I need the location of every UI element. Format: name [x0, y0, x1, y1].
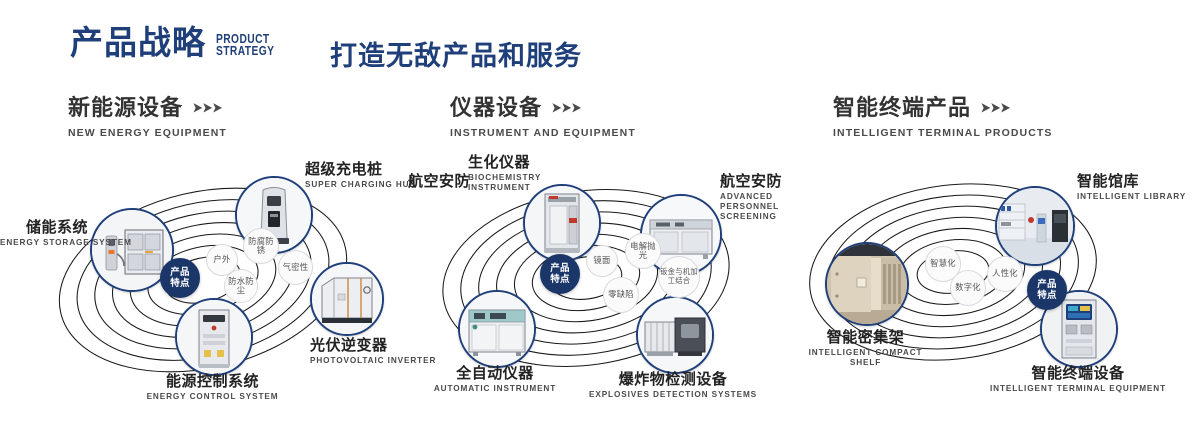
section-title-cn: 仪器设备	[450, 96, 542, 122]
compact-shelf-icon	[827, 244, 907, 324]
page-title-english-line2: STRATEGY	[216, 45, 274, 57]
section-title-intelligent-terminal: 智能终端产品 ➤➤➤ INTELLIGENT TERMINAL PRODUCTS	[833, 96, 1053, 139]
bubble-feature-2[interactable]: 零缺陷	[603, 277, 639, 313]
node-explosives-detection[interactable]	[636, 296, 714, 374]
section-title-en: INSTRUMENT AND EQUIPMENT	[450, 127, 636, 139]
bubble-product-features[interactable]: 产品 特点	[160, 258, 200, 298]
node-label-automatic-instrument: 全自动仪器 AUTOMATIC INSTRUMENT	[398, 364, 592, 394]
bubble-feature-1[interactable]: 电解抛光	[625, 233, 661, 269]
node-label-self-service-kiosk: 智能终端设备 INTELLIGENT TERMINAL EQUIPMENT	[980, 364, 1176, 394]
bubble-feature-3[interactable]: 气密性	[278, 250, 313, 285]
bubble-product-features[interactable]: 产品 特点	[1027, 270, 1067, 310]
bubble-feature-1[interactable]: 数字化	[950, 270, 986, 306]
biochemistry-analyzer-icon	[525, 186, 599, 260]
diagram-intelligent-terminal: 智能馆库 INTELLIGENT LIBRARY 智能密集架	[805, 150, 1200, 410]
node-label-energy-storage: 储能系统 ENERGY STORAGE SYSTEM	[0, 218, 88, 248]
node-label-biochemistry-instrument: 生化仪器 BIOCHEMISTRY INSTRUMENT	[468, 153, 560, 193]
section-title-en: INTELLIGENT TERMINAL PRODUCTS	[833, 127, 1053, 139]
control-cabinet-icon	[177, 300, 251, 374]
node-automatic-instrument[interactable]	[458, 290, 536, 368]
node-pv-inverter[interactable]	[310, 262, 384, 336]
diagram-new-energy: 储能系统 ENERGY STORAGE SYSTEM 超级充电桩 SUPER C…	[35, 150, 435, 410]
section-title-instrument: 仪器设备 ➤➤➤ INSTRUMENT AND EQUIPMENT	[450, 96, 636, 139]
smart-library-icon	[997, 188, 1073, 264]
node-label-explosives-detection: 爆炸物检测设备 EXPLOSIVES DETECTION SYSTEMS	[578, 370, 768, 400]
stray-label-aviation-security: 航空安防	[408, 172, 470, 190]
node-label-super-charging-hub: 超级充电桩 SUPER CHARGING HUB	[305, 160, 416, 190]
chevrons-icon: ➤➤➤	[192, 94, 222, 124]
node-label-compact-shelf: 智能密集架 INTELLIGENT COMPACT SHELF	[793, 328, 938, 368]
bubble-feature-3[interactable]: 钣金与机加工结合	[658, 256, 700, 298]
page-header: 产品战略 PRODUCT STRATEGY	[70, 26, 287, 59]
page-title-english: PRODUCT STRATEGY	[216, 33, 274, 57]
page-title: 产品战略	[70, 26, 206, 59]
bubble-feature-0[interactable]: 镜面	[586, 245, 618, 277]
chevrons-icon: ➤➤➤	[551, 94, 581, 124]
bubble-feature-2[interactable]: 人性化	[987, 256, 1023, 292]
page-subtitle: 打造无敌产品和服务	[330, 34, 582, 73]
section-title-en: NEW ENERGY EQUIPMENT	[68, 127, 227, 139]
bubble-feature-2[interactable]: 防水防尘	[224, 269, 258, 303]
node-label-smart-library: 智能馆库 INTELLIGENT LIBRARY	[1077, 172, 1186, 202]
node-label-energy-control-system: 能源控制系统 ENERGY CONTROL SYSTEM	[95, 372, 330, 402]
poster-canvas: 产品战略 PRODUCT STRATEGY 打造无敌产品和服务 新能源设备 ➤➤…	[0, 0, 1200, 422]
section-title-new-energy: 新能源设备 ➤➤➤ NEW ENERGY EQUIPMENT	[68, 96, 227, 139]
pv-inverter-icon	[312, 264, 382, 334]
diagram-instrument: 航空安防 生化仪器 BIOCHEMISTRY INSTRUMENT	[418, 150, 818, 410]
node-energy-control-system[interactable]	[175, 298, 253, 376]
section-title-cn: 智能终端产品	[833, 96, 971, 122]
automatic-instrument-icon	[460, 292, 534, 366]
bubble-feature-1[interactable]: 防腐防锈	[243, 228, 279, 264]
chevrons-icon: ➤➤➤	[980, 94, 1010, 124]
section-title-cn: 新能源设备	[68, 96, 183, 122]
bubble-product-features[interactable]: 产品 特点	[540, 254, 580, 294]
node-compact-shelf[interactable]	[825, 242, 909, 326]
node-smart-library[interactable]	[995, 186, 1075, 266]
explosives-detector-icon	[638, 298, 712, 372]
